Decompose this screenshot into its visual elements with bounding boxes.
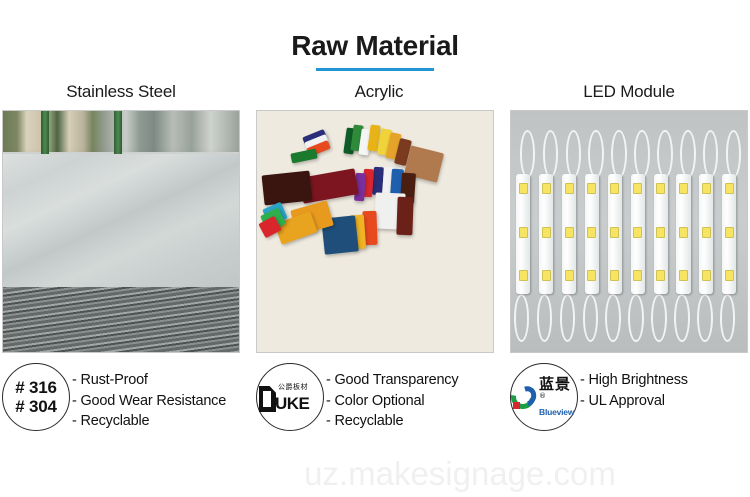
column-heading-led-module: LED Module xyxy=(500,82,750,102)
feature-item: - UL Approval xyxy=(580,391,688,412)
badge-duke-logo: UKE 公爵板材 xyxy=(256,363,324,431)
column-headings: Stainless Steel Acrylic LED Module xyxy=(0,82,750,102)
led-connector-wire xyxy=(697,294,713,342)
title-underline-rule xyxy=(316,68,434,71)
led-chip xyxy=(519,270,528,281)
led-module-strip xyxy=(676,174,690,295)
led-chip xyxy=(702,183,711,194)
feature-block-led-module: 蓝景® Blueview - High Brightness - UL Appr… xyxy=(510,363,748,432)
feature-item: - Rust-Proof xyxy=(72,370,226,391)
led-chip xyxy=(565,183,574,194)
column-heading-acrylic: Acrylic xyxy=(258,82,500,102)
led-connector-wire xyxy=(566,130,582,178)
led-chip xyxy=(565,227,574,238)
duke-chinese-name: 公爵板材 xyxy=(278,382,308,392)
led-chip xyxy=(679,227,688,238)
led-module-strip xyxy=(608,174,622,295)
badge-grade-316: # 316 xyxy=(15,378,57,397)
feature-block-acrylic: UKE 公爵板材 - Good Transparency - Color Opt… xyxy=(256,363,494,432)
blueview-swoosh-icon xyxy=(511,384,537,410)
led-connector-wire xyxy=(583,294,599,342)
led-chip xyxy=(565,270,574,281)
led-module-strip xyxy=(631,174,645,295)
led-chip xyxy=(519,183,528,194)
feature-item: - Recyclable xyxy=(72,411,226,432)
badge-grade-304: # 304 xyxy=(15,397,57,416)
acrylic-sheet-sample xyxy=(396,197,413,236)
column-heading-stainless-steel: Stainless Steel xyxy=(0,82,258,102)
image-panel-stainless-steel xyxy=(2,110,240,353)
led-chip xyxy=(542,270,551,281)
feature-block-stainless-steel: # 316 # 304 - Rust-Proof - Good Wear Res… xyxy=(2,363,240,432)
led-chip xyxy=(610,227,619,238)
led-connector-wire xyxy=(514,294,530,342)
steel-sheet-stack xyxy=(2,287,240,352)
led-module-strip xyxy=(585,174,599,295)
acrylic-sheet-sample xyxy=(262,171,313,206)
led-chip xyxy=(725,227,734,238)
led-connector-wire xyxy=(651,294,667,342)
led-connector-wire xyxy=(611,130,627,178)
feature-item: - Recyclable xyxy=(326,411,458,432)
feature-list-acrylic: - Good Transparency - Color Optional - R… xyxy=(326,363,458,432)
led-chip xyxy=(587,183,596,194)
led-chip xyxy=(633,227,642,238)
image-panel-acrylic xyxy=(256,110,494,353)
blueview-chinese-text: 蓝景 xyxy=(539,375,571,393)
led-module-strip xyxy=(539,174,553,295)
feature-item: - Color Optional xyxy=(326,391,458,412)
led-connector-wire xyxy=(720,294,736,342)
led-connector-wire xyxy=(634,130,650,178)
led-chip xyxy=(542,183,551,194)
led-module-strip xyxy=(699,174,713,295)
led-chip xyxy=(542,227,551,238)
duke-wordmark: UKE xyxy=(275,396,309,412)
warehouse-pillar xyxy=(41,111,49,154)
led-module-strip xyxy=(654,174,668,295)
led-chip xyxy=(610,183,619,194)
blueview-red-square-icon xyxy=(513,402,520,409)
led-connector-wire xyxy=(674,294,690,342)
page-header: Raw Material xyxy=(0,0,750,71)
led-connector-wire xyxy=(680,130,696,178)
led-chip xyxy=(633,270,642,281)
led-connector-wire xyxy=(588,130,604,178)
led-chip xyxy=(587,270,596,281)
steel-sheet-top xyxy=(2,154,240,294)
feature-list-led-module: - High Brightness - UL Approval xyxy=(580,363,688,411)
led-chip xyxy=(679,183,688,194)
led-module-strip xyxy=(722,174,736,295)
led-connector-wire xyxy=(605,294,621,342)
badge-steel-grades: # 316 # 304 xyxy=(2,363,70,431)
registered-trademark-icon: ® xyxy=(539,392,547,400)
led-connector-wire xyxy=(520,130,536,178)
duke-d-letter-icon xyxy=(259,386,276,412)
led-connector-wire xyxy=(726,130,742,178)
led-chip xyxy=(725,270,734,281)
feature-item: - Good Wear Resistance xyxy=(72,391,226,412)
led-chip xyxy=(633,183,642,194)
site-watermark: uz.makesignage.com xyxy=(0,455,750,493)
material-image-panels xyxy=(0,110,750,353)
led-chip xyxy=(656,183,665,194)
led-connector-wire xyxy=(543,130,559,178)
led-chip xyxy=(519,227,528,238)
led-connector-wire xyxy=(537,294,553,342)
led-chip xyxy=(656,227,665,238)
led-chip xyxy=(702,227,711,238)
feature-item: - High Brightness xyxy=(580,370,688,391)
badge-blueview-logo: 蓝景® Blueview xyxy=(510,363,578,431)
feature-item: - Good Transparency xyxy=(326,370,458,391)
blueview-logo-icon: 蓝景® Blueview xyxy=(511,380,577,414)
blueview-wordmark: 蓝景® Blueview xyxy=(539,377,577,417)
led-chip xyxy=(656,270,665,281)
led-connector-wire xyxy=(628,294,644,342)
led-chip xyxy=(679,270,688,281)
led-connector-wire xyxy=(703,130,719,178)
led-module-strip xyxy=(562,174,576,295)
led-chip xyxy=(610,270,619,281)
led-module-strip xyxy=(516,174,530,295)
image-panel-led-module xyxy=(510,110,748,353)
blueview-chinese-name: 蓝景® xyxy=(539,377,577,407)
page-title: Raw Material xyxy=(291,32,459,60)
duke-logo-icon: UKE 公爵板材 xyxy=(259,382,321,412)
blueview-english-name: Blueview xyxy=(539,408,577,417)
led-connector-wire xyxy=(657,130,673,178)
led-chip xyxy=(587,227,596,238)
material-feature-rows: # 316 # 304 - Rust-Proof - Good Wear Res… xyxy=(0,363,750,432)
feature-list-stainless-steel: - Rust-Proof - Good Wear Resistance - Re… xyxy=(72,363,226,432)
led-connector-wire xyxy=(560,294,576,342)
led-chip xyxy=(725,183,734,194)
acrylic-sheet-sample xyxy=(290,148,318,163)
led-chip xyxy=(702,270,711,281)
